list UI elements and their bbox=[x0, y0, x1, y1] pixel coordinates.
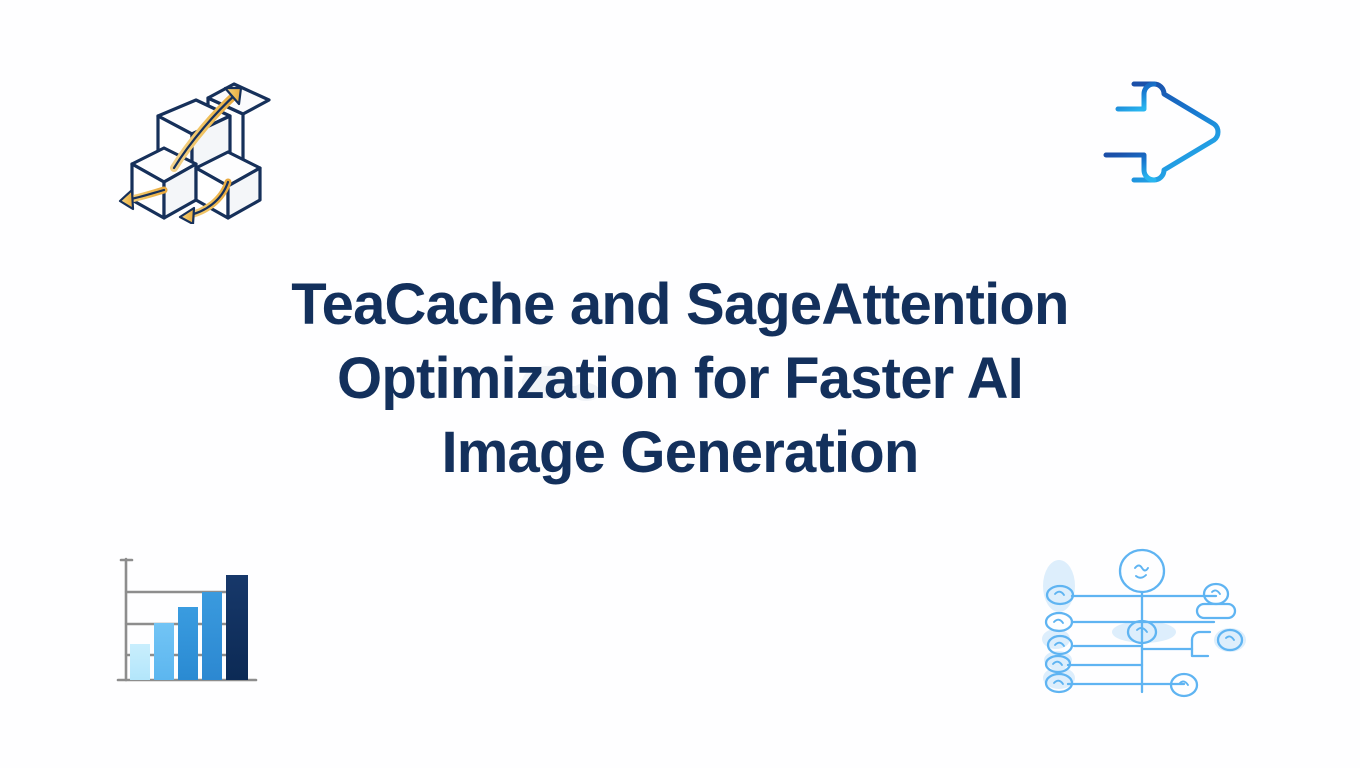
bar-3 bbox=[178, 607, 198, 680]
title-line-3: Image Generation bbox=[230, 416, 1130, 490]
bar-1 bbox=[130, 644, 150, 680]
isometric-blocks-optimization-icon bbox=[112, 58, 272, 224]
title-line-1: TeaCache and SageAttention bbox=[230, 268, 1130, 342]
bar-chart-icon bbox=[112, 552, 280, 700]
bar-2 bbox=[154, 623, 174, 680]
slide-canvas: TeaCache and SageAttention Optimization … bbox=[0, 0, 1360, 768]
bar-5 bbox=[226, 575, 248, 680]
title-line-2: Optimization for Faster AI bbox=[230, 342, 1130, 416]
bar-4 bbox=[202, 592, 222, 680]
speed-arrow-icon bbox=[1062, 62, 1248, 202]
hand-drawn-flow-diagram-icon bbox=[1032, 544, 1264, 702]
page-title: TeaCache and SageAttention Optimization … bbox=[230, 268, 1130, 490]
